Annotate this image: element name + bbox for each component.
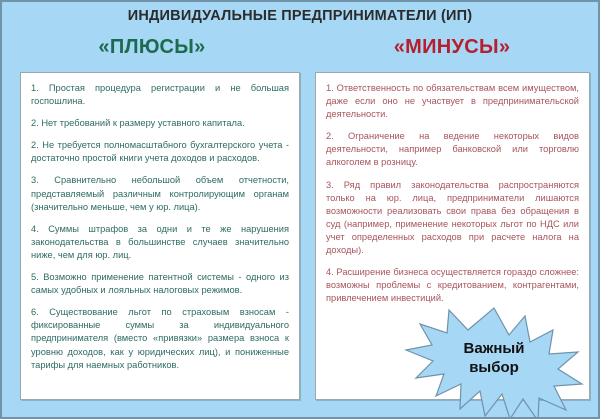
plus-list-item: 4. Суммы штрафов за одни и те же нарушен… bbox=[31, 223, 289, 262]
plus-column-heading: «ПЛЮСЫ» bbox=[2, 36, 302, 59]
plus-panel: 1. Простая процедура регистрации и не бо… bbox=[20, 72, 300, 400]
minus-list-item: 1. Ответственность по обязательствам все… bbox=[326, 82, 579, 121]
important-choice-badge: Важный выбор bbox=[406, 306, 582, 419]
plus-list-item: 6. Существование льгот по страховым взно… bbox=[31, 306, 289, 371]
plus-list-item: 2. Нет требований к размеру уставного ка… bbox=[31, 117, 289, 130]
starburst-icon bbox=[406, 306, 582, 419]
plus-list-item: 2. Не требуется полномасштабного бухгалт… bbox=[31, 139, 289, 165]
minus-list-item: 4. Расширение бизнеса осуществляется гор… bbox=[326, 266, 579, 305]
poster-header: ИНДИВИДУАЛЬНЫЕ ПРЕДПРИНИМАТЕЛИ (ИП) «ПЛЮ… bbox=[2, 2, 598, 68]
poster-canvas: ИНДИВИДУАЛЬНЫЕ ПРЕДПРИНИМАТЕЛИ (ИП) «ПЛЮ… bbox=[0, 0, 600, 419]
minus-list-item: 2. Ограничение на ведение некоторых видо… bbox=[326, 130, 579, 169]
page-title: ИНДИВИДУАЛЬНЫЕ ПРЕДПРИНИМАТЕЛИ (ИП) bbox=[2, 8, 598, 24]
minus-column-heading: «МИНУСЫ» bbox=[302, 36, 600, 59]
minus-list-item: 3. Ряд правил законодательства распростр… bbox=[326, 179, 579, 258]
plus-list-item: 3. Сравнительно небольшой объем отчетнос… bbox=[31, 174, 289, 213]
plus-list-item: 1. Простая процедура регистрации и не бо… bbox=[31, 82, 289, 108]
plus-list-item: 5. Возможно применение патентной системы… bbox=[31, 271, 289, 297]
